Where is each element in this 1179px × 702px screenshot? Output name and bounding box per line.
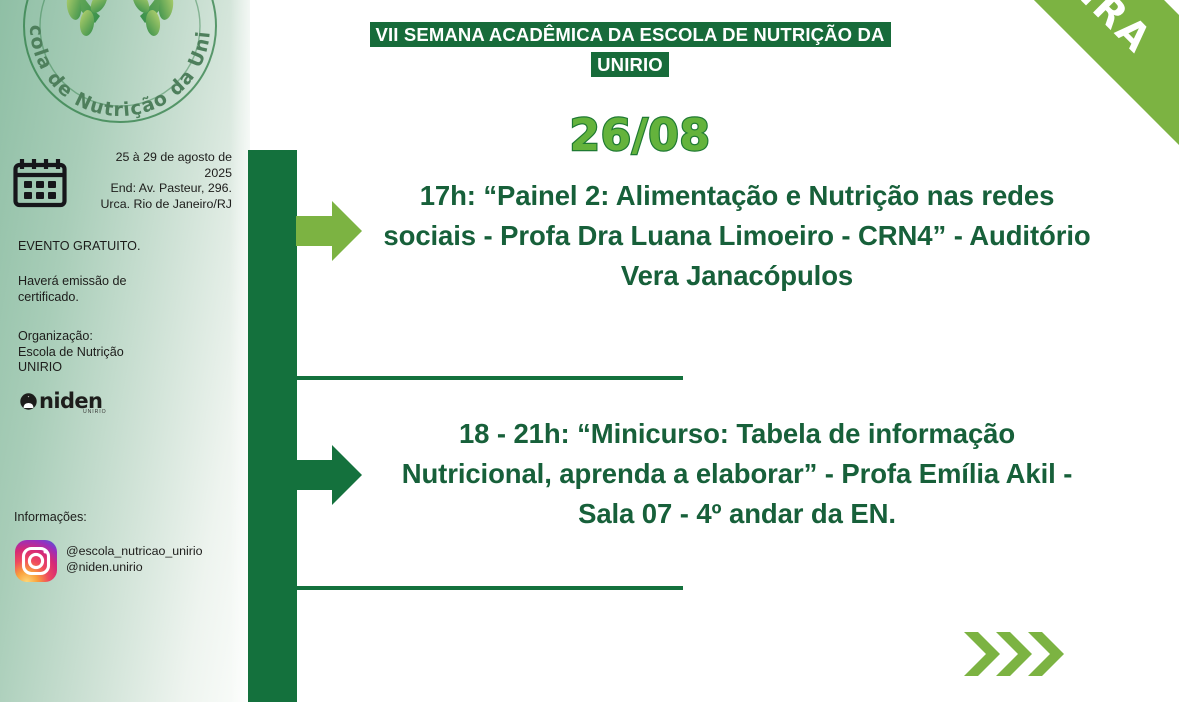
section-divider-1 xyxy=(297,376,683,380)
sidebar: Escola de Nutrição da Unirio xyxy=(0,0,250,702)
info-label: Informações: xyxy=(14,510,87,524)
escola-de-nutricao-logo: Escola de Nutrição da Unirio xyxy=(6,0,234,127)
niden-subtext: UNIRIO xyxy=(83,409,107,415)
section-divider-2 xyxy=(297,586,683,590)
free-event-note: EVENTO GRATUITO. xyxy=(18,239,218,255)
address-line-2: Urca. Rio de Janeiro/RJ xyxy=(72,197,232,213)
event-title-line-1: VII SEMANA ACADÊMICA DA ESCOLA DE NUTRIÇ… xyxy=(370,22,891,47)
certificate-line-1: Haverá emissão de xyxy=(18,274,218,290)
instagram-handle-escola[interactable]: @escola_nutricao_unirio xyxy=(66,543,203,559)
date-heading: 26/08 xyxy=(440,110,840,161)
timeline-arrow-dark-icon xyxy=(296,440,364,510)
address-line-1: End: Av. Pasteur, 296. xyxy=(72,181,232,197)
organization-note: Organização: Escola de Nutrição UNIRIO xyxy=(18,329,218,376)
certificate-line-2: certificado. xyxy=(18,290,218,306)
event-title-line-2: UNIRIO xyxy=(591,52,669,77)
event-entry-1: 17h: “Painel 2: Alimentação e Nutrição n… xyxy=(382,176,1092,296)
instagram-handles: @escola_nutricao_unirio @niden.unirio xyxy=(66,543,203,575)
instagram-handle-niden[interactable]: @niden.unirio xyxy=(66,559,203,575)
niden-logo: niden UNIRIO xyxy=(20,391,130,421)
calendar-icon xyxy=(12,156,68,208)
organization-line-2: Escola de Nutrição xyxy=(18,345,218,361)
event-dates-block: 25 à 29 de agosto de 2025 End: Av. Paste… xyxy=(0,150,235,220)
weekday-ribbon-label: FEIRA xyxy=(1031,0,1161,62)
certificate-note: Haverá emissão de certificado. xyxy=(18,274,218,305)
event-dates-text: 25 à 29 de agosto de 2025 End: Av. Paste… xyxy=(72,150,232,212)
organization-line-3: UNIRIO xyxy=(18,360,218,376)
timeline-arrow-light-icon xyxy=(296,196,364,266)
niden-mark-icon xyxy=(20,393,37,410)
organization-line-1: Organização: xyxy=(18,329,218,345)
event-title-banner: VII SEMANA ACADÊMICA DA ESCOLA DE NUTRIÇ… xyxy=(300,20,960,80)
instagram-icon[interactable] xyxy=(14,539,58,583)
chevrons-decoration-icon xyxy=(962,628,1087,680)
dates-line-2: 2025 xyxy=(72,166,232,182)
dates-line-1: 25 à 29 de agosto de xyxy=(72,150,232,166)
timeline-vertical-bar xyxy=(248,150,297,702)
svg-text:Escola de Nutrição da Unirio: Escola de Nutrição da Unirio xyxy=(6,0,215,121)
event-entry-2: 18 - 21h: “Minicurso: Tabela de informaç… xyxy=(382,414,1092,534)
poster-canvas: Escola de Nutrição da Unirio xyxy=(0,0,1179,702)
logo-ring-text: Escola de Nutrição da Unirio xyxy=(6,0,215,121)
